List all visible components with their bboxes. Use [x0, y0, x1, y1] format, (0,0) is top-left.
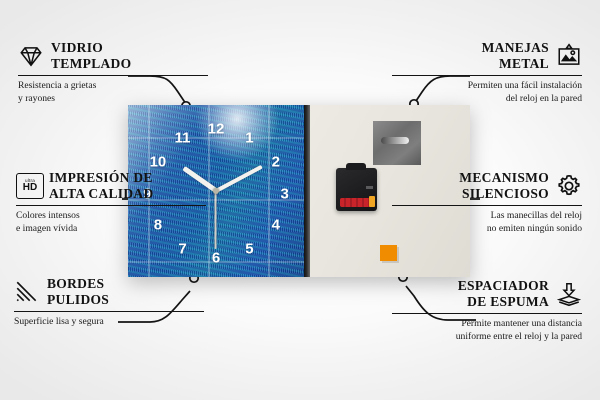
- callout-rule: [18, 75, 208, 77]
- polished-edges-icon: [14, 279, 40, 305]
- callout-title-line2: ALTA CALIDAD: [49, 186, 154, 202]
- callout-title: VIDRIO TEMPLADO: [51, 40, 131, 72]
- callout-description: Resistencia a grietas y rayones: [18, 80, 208, 105]
- numeral-3: 3: [280, 186, 288, 203]
- callout-desc-line1: Resistencia a grietas: [18, 80, 208, 93]
- callout-title: IMPRESIÓN DE ALTA CALIDAD: [49, 170, 154, 202]
- mechanism-tab: [346, 163, 366, 170]
- mechanism-label: [366, 186, 373, 189]
- numeral-6: 6: [212, 250, 220, 267]
- callout-description: Las manecillas del reloj no emiten ningú…: [392, 210, 582, 235]
- callout-title-line2: METAL: [482, 56, 549, 72]
- callout-title-line1: IMPRESIÓN DE: [49, 170, 154, 186]
- callout-rule: [392, 313, 582, 315]
- callout-title: MANEJAS METAL: [482, 40, 549, 72]
- callout-vidrio-templado: VIDRIO TEMPLADO Resistencia a grietas y …: [18, 40, 208, 106]
- callout-title-line1: MECANISMO: [459, 170, 549, 186]
- callout-mecanismo-silencioso: MECANISMO SILENCIOSO Las manecillas del …: [392, 170, 582, 236]
- callout-desc-line1: Colores intensos: [16, 210, 206, 223]
- second-hand: [215, 191, 217, 249]
- callout-description: Permiten una fácil instalación del reloj…: [392, 80, 582, 105]
- callout-title-line1: ESPACIADOR: [458, 278, 549, 294]
- numeral-4: 4: [272, 217, 280, 234]
- numeral-11: 11: [175, 129, 191, 146]
- ultra-hd-icon: ultra HD: [16, 173, 42, 199]
- callout-impresion-alta-calidad: ultra HD IMPRESIÓN DE ALTA CALIDAD Color…: [16, 170, 206, 236]
- ultra-hd-bottom-label: HD: [23, 183, 37, 193]
- callout-title-line2: PULIDOS: [47, 292, 109, 308]
- callout-description: Colores intensos e imagen vívida: [16, 210, 206, 235]
- picture-hanger-icon: [556, 43, 582, 69]
- callout-title: MECANISMO SILENCIOSO: [459, 170, 549, 202]
- callout-manejas-metal: MANEJAS METAL Permiten una fácil instala…: [392, 40, 582, 106]
- callout-rule: [392, 75, 582, 77]
- callout-desc-line1: Las manecillas del reloj: [392, 210, 582, 223]
- callout-header: MECANISMO SILENCIOSO: [392, 170, 582, 202]
- callout-desc-line2: y rayones: [18, 93, 208, 106]
- foam-spacer-icon: [556, 281, 582, 307]
- callout-header: VIDRIO TEMPLADO: [18, 40, 208, 72]
- callout-rule: [392, 205, 582, 207]
- callout-title: ESPACIADOR DE ESPUMA: [458, 278, 549, 310]
- numeral-12: 12: [208, 121, 225, 138]
- callout-header: BORDES PULIDOS: [14, 276, 204, 308]
- callout-rule: [14, 311, 204, 313]
- callout-desc-line2: e imagen vívida: [16, 223, 206, 236]
- callout-desc-line2: del reloj en la pared: [392, 93, 582, 106]
- callout-desc-line2: uniforme entre el reloj y la pared: [392, 331, 582, 344]
- metal-hanger: [373, 121, 421, 165]
- callout-title-line2: SILENCIOSO: [459, 186, 549, 202]
- callout-title-line2: TEMPLADO: [51, 56, 131, 72]
- callout-espaciador-de-espuma: ESPACIADOR DE ESPUMA Permite mantener un…: [392, 278, 582, 344]
- minute-hand: [215, 165, 263, 193]
- foam-spacer: [380, 245, 397, 261]
- callout-description: Superficie lisa y segura: [14, 316, 204, 329]
- callout-header: ESPACIADOR DE ESPUMA: [392, 278, 582, 310]
- numeral-2: 2: [272, 153, 280, 170]
- gear-icon: [556, 173, 582, 199]
- numeral-7: 7: [178, 241, 186, 258]
- callout-title: BORDES PULIDOS: [47, 276, 109, 308]
- infographic-stage: 12 1 2 3 4 5 6 7 8 9 10 11: [0, 0, 600, 400]
- callout-header: ultra HD IMPRESIÓN DE ALTA CALIDAD: [16, 170, 206, 202]
- callout-bordes-pulidos: BORDES PULIDOS Superficie lisa y segura: [14, 276, 204, 329]
- callout-title-line1: VIDRIO: [51, 40, 131, 56]
- center-pin: [213, 188, 219, 194]
- hanger-slot: [381, 137, 409, 144]
- numeral-1: 1: [245, 129, 253, 146]
- callout-title-line1: MANEJAS: [482, 40, 549, 56]
- numeral-5: 5: [245, 241, 253, 258]
- callout-desc-line1: Superficie lisa y segura: [14, 316, 204, 329]
- battery: [340, 198, 373, 207]
- callout-desc-line1: Permite mantener una distancia: [392, 318, 582, 331]
- callout-rule: [16, 205, 206, 207]
- clock-mechanism: [336, 168, 377, 211]
- callout-desc-line1: Permiten una fácil instalación: [392, 80, 582, 93]
- diamond-icon: [18, 43, 44, 69]
- numeral-10: 10: [150, 153, 167, 170]
- callout-description: Permite mantener una distancia uniforme …: [392, 318, 582, 343]
- callout-title-line1: BORDES: [47, 276, 109, 292]
- callout-desc-line2: no emiten ningún sonido: [392, 223, 582, 236]
- callout-title-line2: DE ESPUMA: [458, 294, 549, 310]
- callout-header: MANEJAS METAL: [392, 40, 582, 72]
